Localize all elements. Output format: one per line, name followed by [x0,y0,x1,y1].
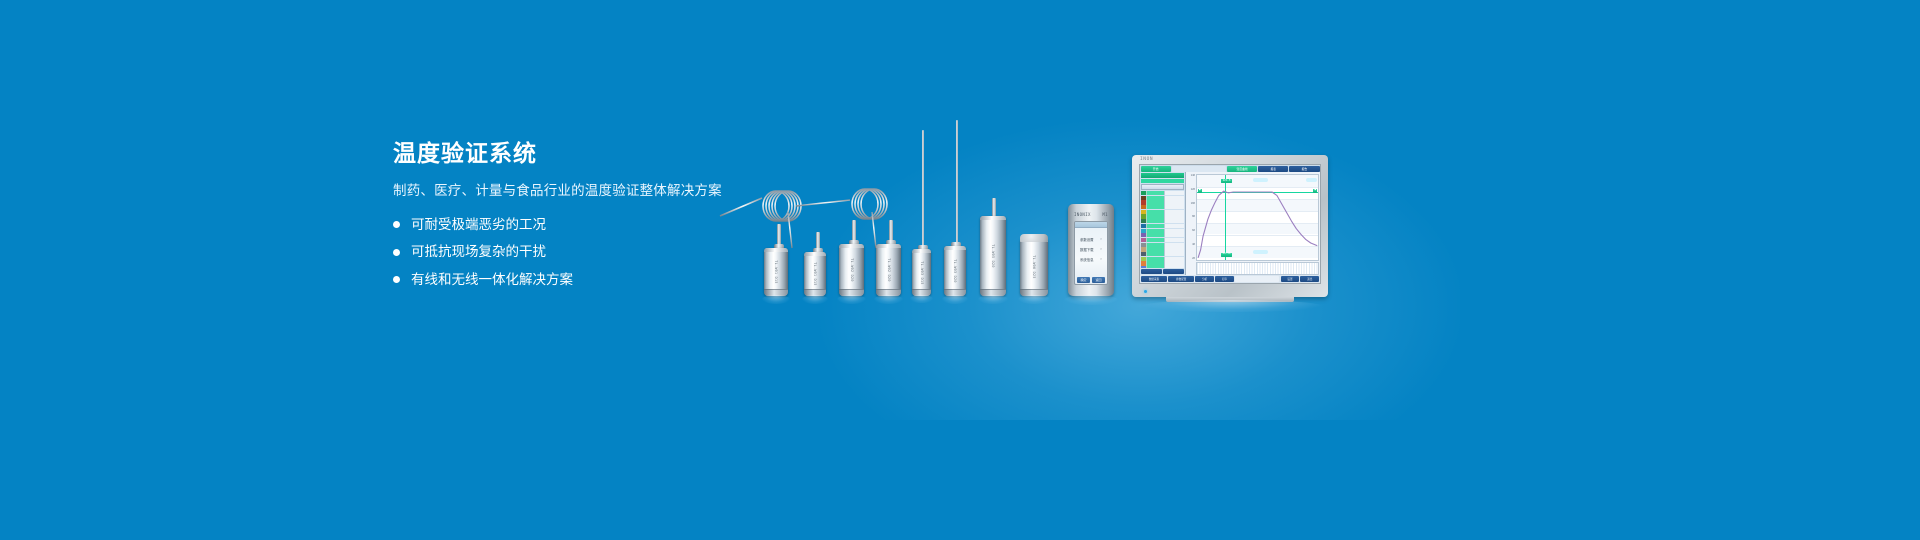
logger-label: TL-W06 D25 [1032,255,1036,278]
logger-label: TL-W02 D20 [850,258,854,281]
button-print[interactable]: 打印 [1215,276,1234,282]
table-row[interactable] [1141,261,1184,265]
probe-stem [889,220,893,242]
menu-item[interactable]: 参数设置 › [1080,237,1102,242]
app-toolbar: 开始 温度曲线 报表 报告 [1140,165,1320,172]
handheld-screen[interactable]: 参数设置 › 数据下载 › 系统信息 › 确定 返回 [1074,221,1108,285]
bullet-dot-icon [393,221,400,228]
product-scene: TL-W01 D15 TL-W01 D15 TL-W02 D20 TL-W02 … [700,120,1220,320]
menu-item-label: 参数设置 [1080,237,1094,242]
reflection [1018,295,1050,304]
data-logger: TL-W05 D20 [980,216,1006,296]
table-row[interactable] [1141,229,1184,233]
bullet-dot-icon [393,276,400,283]
table-row[interactable] [1141,257,1184,261]
table-row[interactable] [1141,219,1184,223]
chart-main: 140 120 100 80 60 40 20 [1186,172,1320,261]
y-tick: 40 [1192,244,1195,246]
probe-stem [992,198,996,218]
monitor-brand-label: INON [1140,157,1153,162]
select-all-button[interactable] [1141,269,1162,274]
reflection [910,295,933,303]
y-axis: 140 120 100 80 60 40 20 [1187,174,1196,261]
limit-right-tag: ■ [1313,189,1317,193]
data-logger: TL-W02 D20 [839,244,864,296]
channel-table-rows [1141,191,1184,268]
feature-label: 可耐受极端恶劣的工况 [411,218,546,232]
toolbar-spacer [1235,276,1280,282]
y-tick: 20 [1192,258,1195,260]
coiled-probe-cables [700,120,960,250]
logger-label: TL-W05 D20 [991,244,995,267]
reflection [837,295,866,304]
toolbar-gap [1172,166,1226,172]
table-row[interactable] [1141,266,1184,268]
channel-table-subtitle [1141,179,1184,183]
handheld-model-label: M1 [1102,212,1108,217]
table-row[interactable] [1141,238,1184,242]
reflection [978,295,1008,304]
confirm-button[interactable]: 确定 [1077,277,1090,283]
chevron-right-icon: › [1100,257,1102,262]
menu-item[interactable]: 系统信息 › [1080,257,1102,262]
toolbar-button-start[interactable]: 开始 [1141,166,1171,172]
chevron-right-icon: › [1100,247,1102,252]
table-row[interactable] [1141,200,1184,204]
feature-label: 有线和无线一体化解决方案 [411,273,573,287]
temperature-curve [1197,175,1318,260]
chevron-right-icon: › [1100,237,1102,242]
cursor-value-tag: 121.5 [1221,179,1232,183]
sintered-filter-cap [1020,234,1048,242]
table-row[interactable] [1141,224,1184,228]
y-tick: 60 [1192,230,1195,232]
app-bottom-toolbar: 数据采集 参数配置 分析 打印 设置 退出 [1140,275,1320,283]
handheld-softkeys: 确定 返回 [1075,276,1107,284]
temperature-chart: 140 120 100 80 60 40 20 [1186,172,1320,275]
x-axis[interactable] [1196,262,1319,275]
y-tick: 140 [1191,175,1195,177]
table-row[interactable] [1141,214,1184,218]
button-parameter-config[interactable]: 参数配置 [1168,276,1194,282]
clear-button[interactable] [1163,269,1184,274]
menu-item[interactable]: 数据下载 › [1080,247,1102,252]
toolbar-button-report[interactable]: 报告 [1289,166,1319,172]
menu-item-label: 数据下载 [1080,247,1094,252]
reflection [1142,300,1322,312]
limit-left-tag: ■ [1198,189,1202,193]
button-analysis[interactable]: 分析 [1195,276,1214,282]
data-logger: TL-W01 D15 [764,248,788,296]
y-tick: 120 [1191,189,1195,191]
table-row[interactable] [1141,205,1184,209]
menu-item-label: 系统信息 [1080,257,1094,262]
probe-stem [852,220,856,242]
bullet-dot-icon [393,249,400,256]
toolbar-button-curve[interactable]: 温度曲线 [1227,166,1257,172]
button-exit[interactable]: 退出 [1300,276,1319,282]
handheld-reader[interactable]: INONIX M1 参数设置 › 数据下载 › 系统信息 › [1068,204,1114,296]
table-row[interactable] [1141,210,1184,214]
logger-label: TL-W02 D20 [887,258,891,281]
cursor-time-tag: 00:18 [1221,253,1232,257]
channel-table [1140,172,1186,275]
data-logger: TL-W06 D25 [1020,238,1048,296]
handheld-menu: 参数设置 › 数据下载 › 系统信息 › [1075,228,1107,262]
reflection [762,295,790,304]
reflection [942,295,968,304]
reflection [1064,295,1118,305]
data-logger: TL-W03 D20 [944,246,966,296]
logger-label: TL-W01 D15 [774,260,778,283]
button-settings[interactable]: 设置 [1281,276,1300,282]
reflection [874,295,903,304]
handheld-brand-label: INONIX [1074,212,1091,217]
app-body: 140 120 100 80 60 40 20 [1140,172,1320,275]
hero-banner: 温度验证系统 制药、医疗、计量与食品行业的温度验证整体解决方案 可耐受极端恶劣的… [0,0,1920,540]
button-data-acquisition[interactable]: 数据采集 [1141,276,1167,282]
handheld-branding: INONIX M1 [1074,212,1108,217]
software-screen: 开始 温度曲线 报表 报告 [1139,164,1321,284]
needle-probe [922,130,924,250]
toolbar-button-report-table[interactable]: 报表 [1258,166,1288,172]
table-row[interactable] [1141,252,1184,256]
table-row[interactable] [1141,191,1184,195]
power-led-icon [1144,290,1147,293]
data-logger: TL-W01 D15 [804,252,826,296]
table-row[interactable] [1141,243,1184,247]
needle-probe [956,120,958,248]
y-tick: 80 [1192,216,1195,218]
logger-label: TL-W03 D20 [953,259,957,282]
logger-label: TL-W03 D15 [920,261,924,284]
plot-area[interactable]: 121.5 00:18 ■ ■ [1196,174,1319,261]
logger-label: TL-W01 D15 [813,262,817,285]
monitor: INON 开始 温度曲线 报表 报告 [1132,155,1328,297]
reflection [802,295,828,304]
data-logger: TL-W02 D20 [876,244,901,296]
feature-label: 可抵抗现场复杂的干扰 [411,245,546,259]
channel-table-title [1141,173,1184,178]
back-button[interactable]: 返回 [1092,277,1105,283]
channel-table-footer [1141,269,1184,274]
channel-table-header [1141,184,1184,190]
probe-stem [777,224,781,246]
y-tick: 100 [1191,203,1195,205]
data-logger: TL-W03 D15 [912,249,931,296]
table-row[interactable] [1141,233,1184,237]
table-row[interactable] [1141,196,1184,200]
table-row[interactable] [1141,247,1184,251]
